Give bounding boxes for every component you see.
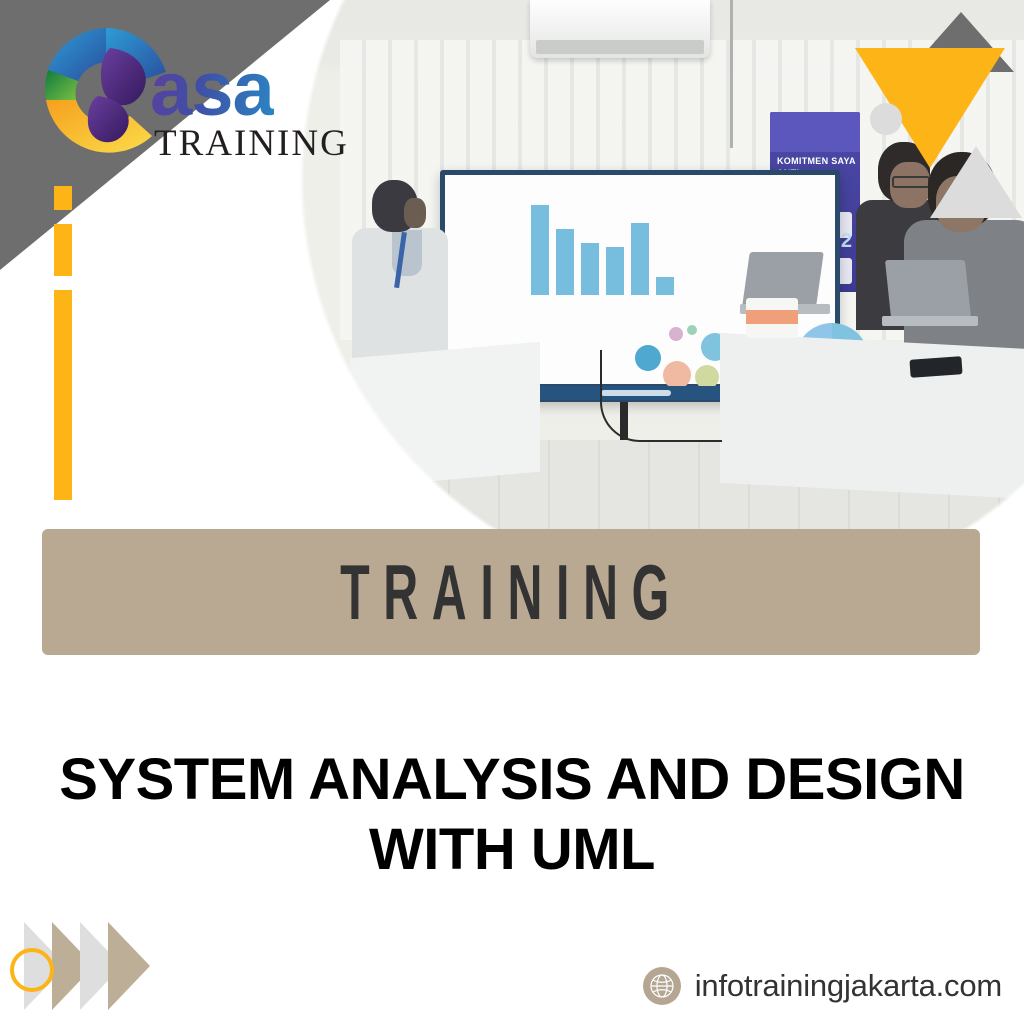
- air-conditioner-vent: [536, 40, 704, 54]
- chevron-arrow-4-icon: [108, 922, 150, 1010]
- laptop-2-base: [882, 316, 978, 326]
- website-url: infotrainingjakarta.com: [695, 968, 1002, 1004]
- brand-logo: asa TRAINING: [32, 18, 332, 168]
- accent-bar-1: [54, 186, 72, 210]
- globe-icon: [643, 967, 681, 1005]
- accent-bar-3: [54, 290, 72, 500]
- presenter-face: [404, 198, 426, 228]
- training-banner-label: TRAINING: [340, 553, 683, 631]
- triangle-gray-light-icon: [930, 146, 1022, 218]
- brand-logo-subtitle: TRAINING: [154, 122, 349, 165]
- table-left: [350, 342, 540, 489]
- accent-bar-2: [54, 224, 72, 276]
- floor-cable: [600, 350, 722, 442]
- ring-outline-icon: [10, 948, 54, 992]
- page-title-line-1: SYSTEM ANALYSIS AND DESIGN: [0, 745, 1024, 815]
- rollup-banner-header: [770, 112, 860, 152]
- ceiling-rod: [730, 0, 733, 148]
- poster-canvas: KOMITMEN SAYA ANTI PENYUAPAN 01 02: [0, 0, 1024, 1024]
- laptop-2-lid: [885, 260, 971, 318]
- circle-gray-icon: [870, 103, 902, 135]
- rollup-banner-line1: KOMITMEN SAYA: [777, 156, 856, 167]
- training-banner: TRAINING: [42, 529, 980, 655]
- table-right: [720, 333, 1024, 501]
- participant-1-glasses: [892, 176, 930, 188]
- page-title-line-2: WITH UML: [0, 815, 1024, 885]
- website-footer[interactable]: infotrainingjakarta.com: [643, 966, 1002, 1006]
- dashboard-bar-chart: [531, 205, 674, 295]
- tissue-box-band: [746, 310, 798, 324]
- smartphone-on-table: [909, 356, 962, 378]
- page-title: SYSTEM ANALYSIS AND DESIGN WITH UML: [0, 745, 1024, 885]
- brand-logo-word: asa: [150, 52, 274, 128]
